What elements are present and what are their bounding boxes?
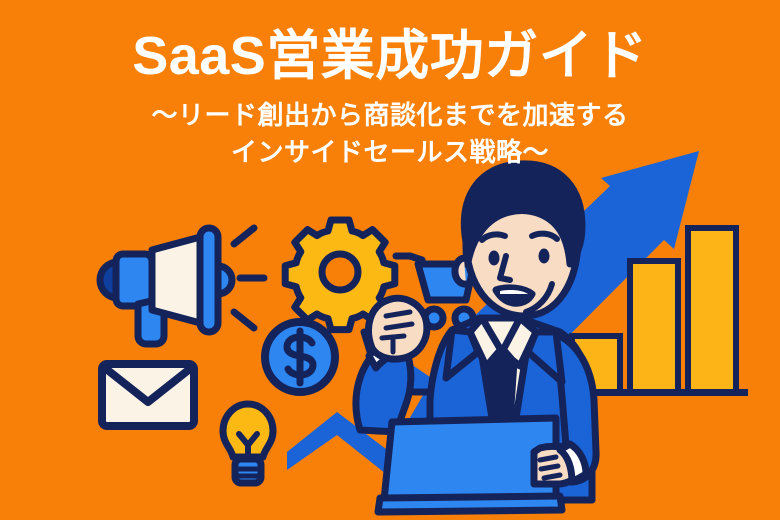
laptop-screen — [384, 418, 556, 500]
eye-left — [489, 251, 500, 266]
businessman-illustration — [0, 0, 780, 520]
laptop-base — [378, 496, 562, 512]
hero-banner: SaaS営業成功ガイド 〜リード創出から商談化までを加速する インサイドセールス… — [0, 0, 780, 520]
eye-right — [539, 249, 550, 264]
